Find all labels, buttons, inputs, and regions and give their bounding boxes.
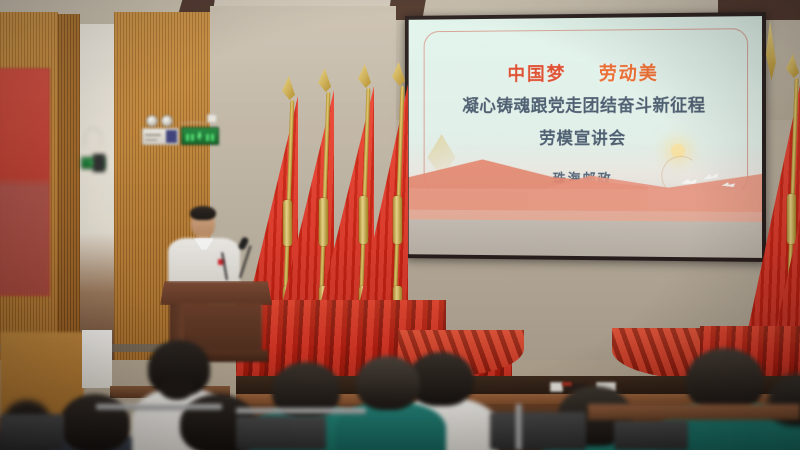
attendee-teal-2-head	[356, 356, 420, 410]
exit-sign-main	[181, 127, 219, 145]
exit-arrow-right	[211, 134, 214, 141]
doorway-pipe	[84, 128, 102, 146]
chair-frame-metal	[516, 404, 522, 450]
chair-back-right	[490, 412, 586, 450]
red-flag-6-cloth	[772, 70, 800, 348]
slide-mountain-base	[409, 188, 762, 224]
emergency-box-panel	[166, 130, 177, 143]
wall-banner-red	[0, 68, 50, 296]
chair-back-center	[236, 416, 326, 450]
emergency-lamp-right	[161, 115, 173, 127]
slide-headline: 中国梦 劳动美	[409, 59, 762, 87]
exit-sign-wire	[178, 122, 210, 128]
red-flag-4-grip-upper	[393, 196, 402, 244]
slide-ground-band	[409, 219, 762, 258]
red-flag-6	[772, 70, 800, 348]
attendee-left-2-head	[60, 394, 130, 450]
seat-rail-left	[96, 404, 222, 410]
cable-red	[562, 382, 572, 386]
attendee-white-blouse-bun	[160, 378, 194, 400]
slide-headline-part2: 劳动美	[599, 64, 659, 85]
wall-switch-left	[207, 114, 217, 123]
speaker-hair	[190, 206, 216, 220]
exit-text-left	[191, 134, 194, 141]
emergency-lamp-left	[146, 115, 158, 127]
exit-arrow-left	[186, 134, 189, 141]
projection-screen-surface: 中国梦 劳动美 凝心铸魂跟党走团结奋斗新征程 劳模宣讲会 珠海邮政	[409, 16, 762, 258]
podium-top	[160, 281, 272, 305]
wall-white-panel	[82, 330, 112, 388]
desk-right-surface	[588, 404, 800, 420]
chair-back-left	[0, 414, 64, 450]
emergency-box-text	[145, 134, 161, 136]
exit-text-right	[206, 134, 209, 141]
attendee-teal-3-head	[686, 348, 764, 412]
doorway-recess	[80, 24, 118, 360]
slide-headline-part1: 中国梦	[507, 64, 566, 85]
wood-pillar-left	[58, 14, 80, 360]
auditorium-photo: 中国梦 劳动美 凝心铸魂跟党走团结奋斗新征程 劳模宣讲会 珠海邮政	[0, 0, 800, 450]
projection-screen: 中国梦 劳动美 凝心铸魂跟党走团结奋斗新征程 劳模宣讲会 珠海邮政	[405, 12, 766, 262]
exit-sign-doorway-mount	[93, 154, 105, 172]
slide-subtitle: 凝心铸魂跟党走团结奋斗新征程	[411, 92, 760, 118]
chair-back-far-right	[614, 420, 688, 450]
seat-rail-center	[236, 408, 366, 414]
slide-subtitle-2: 劳模宣讲会	[409, 124, 762, 149]
emergency-box-text2	[145, 139, 157, 141]
